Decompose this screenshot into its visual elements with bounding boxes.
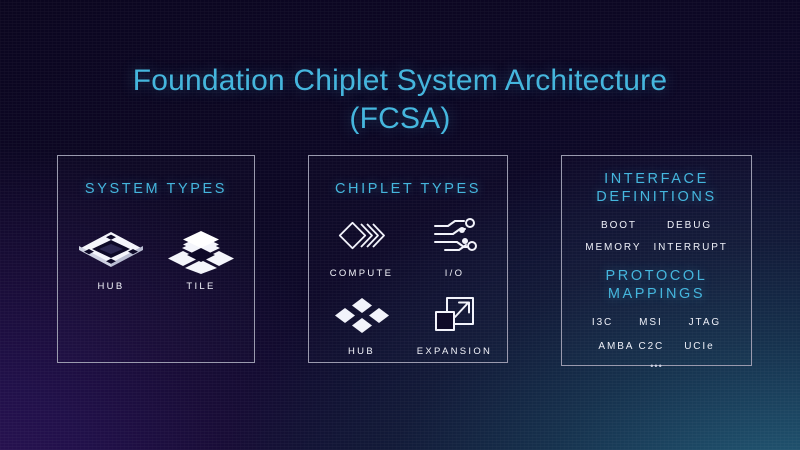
interface-definitions-row-2: MEMORY INTERRUPT [562, 242, 751, 253]
page-title-line-2: (FCSA) [0, 100, 800, 138]
interface-definitions-row-1: BOOT DEBUG [562, 220, 751, 231]
protocol-keyword-amba-c2c[interactable]: AMBA C2C [598, 341, 664, 352]
slide-root: Foundation Chiplet System Architecture (… [0, 0, 800, 450]
page-title: Foundation Chiplet System Architecture (… [0, 62, 800, 139]
tile-diamond-split-icon [167, 228, 235, 274]
stacked-diamond-layers-icon [336, 215, 388, 261]
system-type-tile-label: TILE [186, 281, 215, 292]
panel-system-types-heading: SYSTEM TYPES [58, 180, 254, 198]
panel-chiplet-types-heading: CHIPLET TYPES [309, 180, 507, 198]
protocol-keyword-i3c[interactable]: I3C [592, 317, 613, 328]
protocol-mappings-heading-line-1: PROTOCOL [606, 268, 708, 284]
expand-squares-arrow-icon [434, 293, 476, 339]
chiplet-type-expansion[interactable]: EXPANSION [408, 293, 501, 357]
protocol-mappings-heading-line-2: MAPPINGS [608, 286, 705, 302]
chip-package-isometric-icon [77, 228, 145, 274]
system-type-hub-label: HUB [98, 281, 125, 292]
interface-definitions-heading: INTERFACE DEFINITIONS [562, 170, 751, 206]
protocol-keyword-jtag[interactable]: JTAG [689, 317, 721, 328]
system-type-hub[interactable]: HUB [66, 228, 156, 292]
system-type-tile[interactable]: TILE [156, 228, 246, 292]
interface-keyword-debug[interactable]: DEBUG [667, 220, 712, 231]
protocol-mappings-row-1: I3C MSI JTAG [562, 317, 751, 328]
chiplet-type-hub[interactable]: HUB [315, 293, 408, 357]
system-types-icon-grid: HUB TILE [58, 228, 254, 292]
chiplet-type-io-label: I/O [445, 268, 465, 279]
panel-interface-protocol: INTERFACE DEFINITIONS BOOT DEBUG MEMORY … [561, 155, 752, 366]
protocol-mappings-ellipsis: ••• [562, 361, 751, 371]
chiplet-types-row-2: HUB EXPANSION [309, 293, 507, 357]
protocol-keyword-ucie[interactable]: UCIe [684, 341, 714, 352]
interface-keyword-memory[interactable]: MEMORY [585, 242, 641, 253]
protocol-keyword-msi[interactable]: MSI [639, 317, 662, 328]
interface-keyword-boot[interactable]: BOOT [601, 220, 637, 231]
chiplet-type-hub-label: HUB [348, 346, 375, 357]
chiplet-type-io[interactable]: I/O [408, 215, 501, 279]
chiplet-type-expansion-label: EXPANSION [417, 346, 492, 357]
diamond-cluster-icon [333, 293, 391, 339]
interface-definitions-heading-line-1: INTERFACE [604, 171, 709, 187]
chiplet-type-compute-label: COMPUTE [330, 268, 394, 279]
panel-system-types: SYSTEM TYPES HUB [57, 155, 255, 363]
chiplet-types-row-1: COMPUTE [309, 215, 507, 279]
protocol-mappings-heading: PROTOCOL MAPPINGS [562, 267, 751, 303]
panel-chiplet-types: CHIPLET TYPES COMPUTE [308, 155, 508, 363]
interface-definitions-heading-line-2: DEFINITIONS [596, 189, 716, 205]
interface-keyword-interrupt[interactable]: INTERRUPT [653, 242, 727, 253]
chiplet-type-compute[interactable]: COMPUTE [315, 215, 408, 279]
circuit-traces-icon [431, 215, 479, 261]
protocol-mappings-row-2: AMBA C2C UCIe [562, 341, 751, 352]
page-title-line-1: Foundation Chiplet System Architecture [133, 64, 668, 97]
